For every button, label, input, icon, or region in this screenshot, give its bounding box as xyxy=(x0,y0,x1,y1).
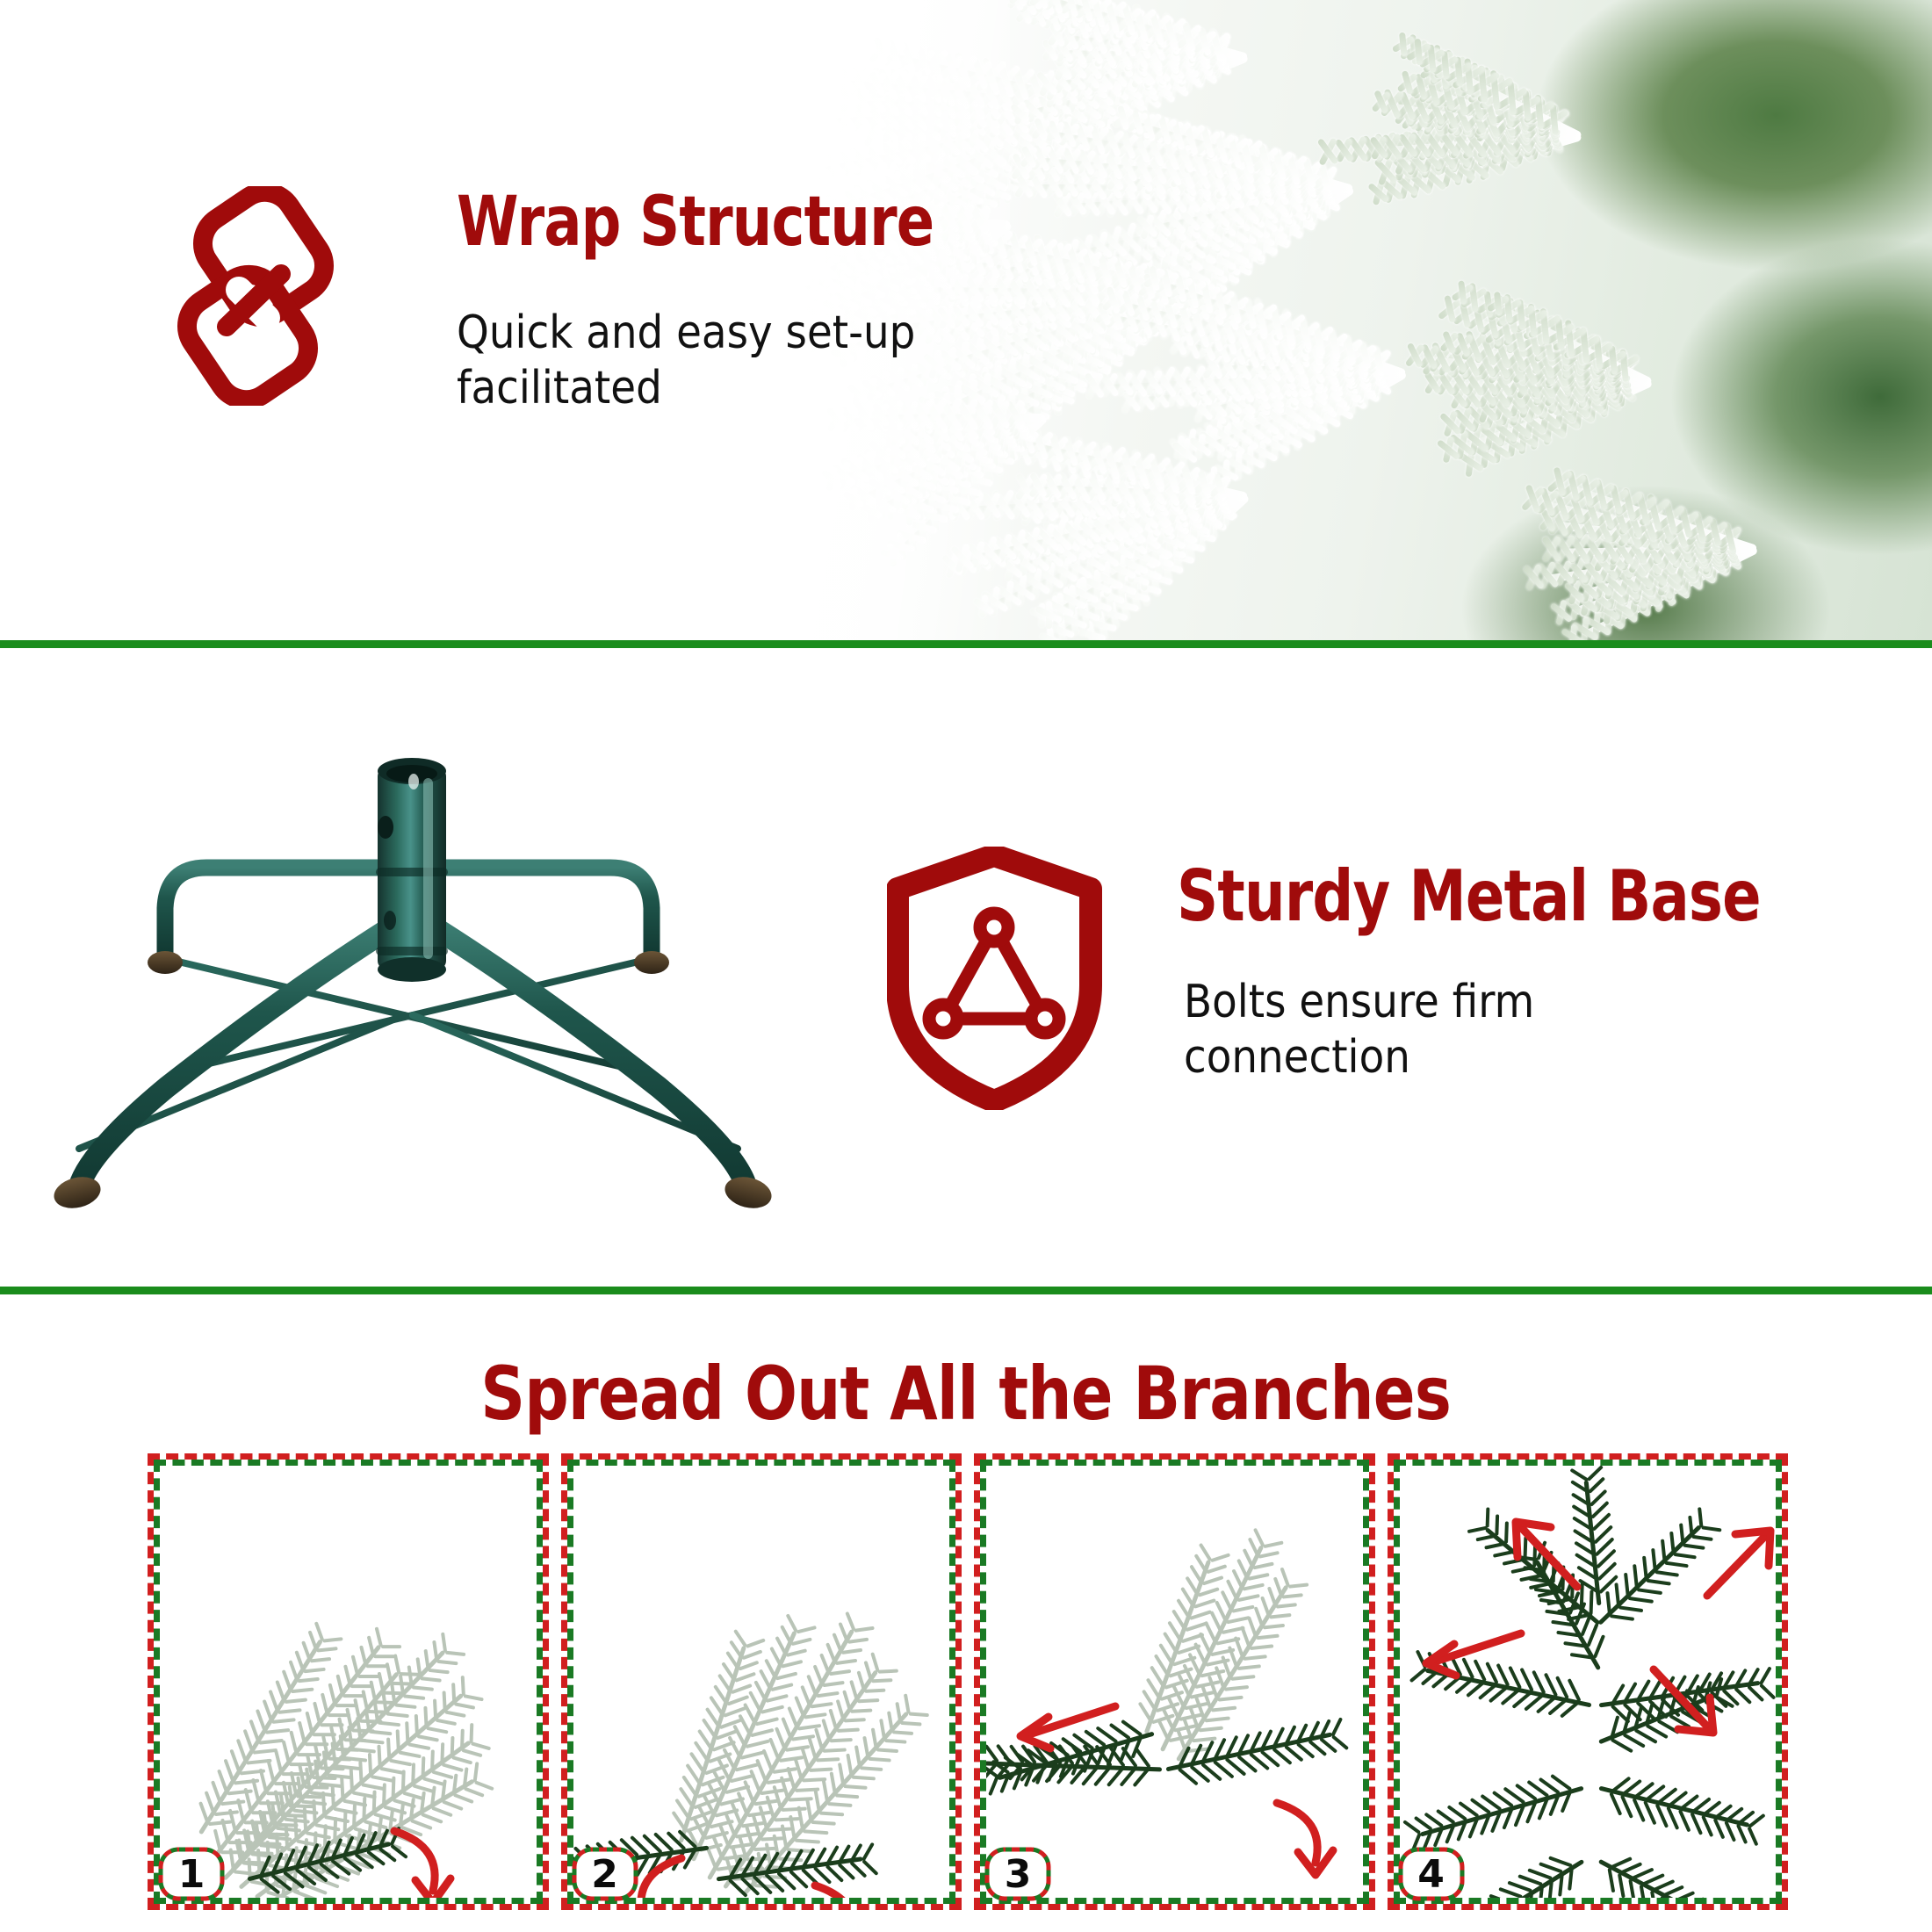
step-illustration xyxy=(160,1466,537,1898)
branch-sprig xyxy=(1598,1785,1750,1827)
feature-subtitle-line-2: connection xyxy=(1184,1030,1534,1085)
instruction-step: 1 xyxy=(148,1453,549,1910)
branch-sprig xyxy=(1419,1785,1583,1837)
instruction-title-text: Spread Out All the Branches xyxy=(481,1351,1452,1437)
instruction-step: 3 xyxy=(974,1453,1375,1910)
instruction-step: 2 xyxy=(561,1453,962,1910)
feature-title-wrap-structure: Wrap Structure xyxy=(457,183,934,262)
section-divider-2 xyxy=(0,1287,1932,1294)
step-number: 3 xyxy=(983,1845,1053,1903)
feature-panel-wrap-structure: Wrap Structure Quick and easy set-up fac… xyxy=(0,0,1932,640)
feature-subtitle-sturdy-metal-base: Bolts ensure firm connection xyxy=(1184,975,1534,1086)
section-divider-1 xyxy=(0,640,1932,648)
chain-link-icon xyxy=(172,186,339,406)
direction-arrow-icon xyxy=(804,1877,883,1898)
feature-subtitle-line-1: Bolts ensure firm xyxy=(1184,975,1534,1030)
direction-arrow-icon xyxy=(1416,1621,1530,1687)
branch-sprig xyxy=(1451,1859,1585,1898)
feature-subtitle-line-1: Quick and easy set-up xyxy=(457,306,915,361)
product-infographic: Wrap Structure Quick and easy set-up fac… xyxy=(0,0,1932,1932)
branch-sprig xyxy=(1598,1859,1718,1898)
instruction-title: Spread Out All the Branches xyxy=(0,1351,1932,1437)
step-number-badge: 1 xyxy=(156,1845,227,1903)
direction-arrow-icon xyxy=(384,1822,463,1898)
direction-arrow-icon xyxy=(1640,1657,1727,1749)
step-number-badge: 2 xyxy=(570,1845,640,1903)
instruction-step: 4 xyxy=(1388,1453,1789,1910)
feature-panel-sturdy-metal-base: Sturdy Metal Base Bolts ensure firm conn… xyxy=(0,648,1932,1287)
step-number: 2 xyxy=(570,1845,640,1903)
step-number-badge: 4 xyxy=(1396,1845,1467,1903)
step-illustration xyxy=(986,1466,1363,1898)
direction-arrow-icon xyxy=(1266,1794,1345,1895)
step-number-badge: 3 xyxy=(983,1845,1053,1903)
feature-subtitle-wrap-structure: Quick and easy set-up facilitated xyxy=(457,306,915,417)
direction-arrow-icon xyxy=(1695,1520,1776,1612)
step-illustration xyxy=(1400,1466,1777,1898)
feature-subtitle-line-2: facilitated xyxy=(457,361,915,416)
direction-arrow-icon xyxy=(1503,1511,1591,1604)
feature-title-sturdy-metal-base: Sturdy Metal Base xyxy=(1177,855,1761,937)
instruction-steps: 1234 xyxy=(148,1453,1788,1910)
step-number: 4 xyxy=(1396,1845,1467,1903)
direction-arrow-icon xyxy=(1010,1694,1124,1760)
step-illustration xyxy=(573,1466,950,1898)
shield-triangle-bolts-icon xyxy=(887,847,1102,1110)
step-number: 1 xyxy=(156,1845,227,1903)
